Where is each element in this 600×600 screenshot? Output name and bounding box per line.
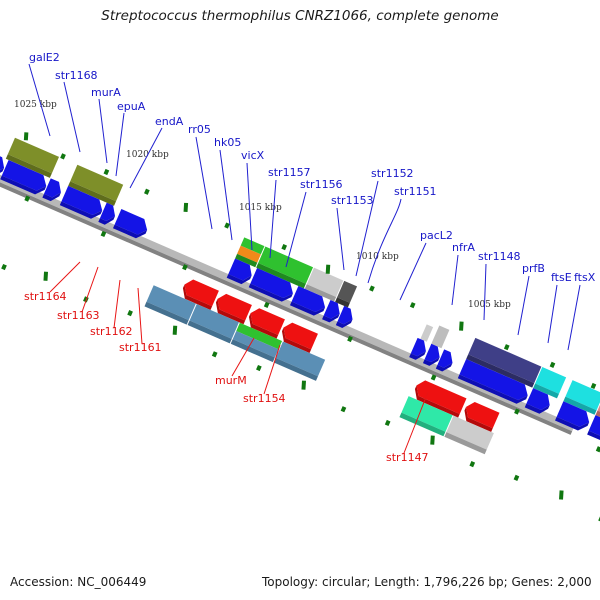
genome-map-viewer: Streptococcus thermophilus CNRZ1066, com… <box>0 0 600 600</box>
gene-label-str1147[interactable]: str1147 <box>386 451 429 464</box>
gene-label-murM[interactable]: murM <box>215 374 247 387</box>
gene-label-str1156[interactable]: str1156 <box>300 178 343 191</box>
leader-line <box>452 255 458 305</box>
leader-line <box>568 285 580 350</box>
gene-label-prfB[interactable]: prfB <box>522 262 545 275</box>
gene-label-str1161[interactable]: str1161 <box>119 341 162 354</box>
axis-tick-label: 1015 kbp <box>239 203 282 213</box>
leader-line <box>114 280 120 328</box>
leader-line <box>400 243 426 300</box>
leader-line <box>196 137 212 229</box>
leader-line <box>337 208 344 270</box>
gene-label-str1163[interactable]: str1163 <box>57 309 100 322</box>
gene-label-str1152[interactable]: str1152 <box>371 167 414 180</box>
gene-label-str1168[interactable]: str1168 <box>55 69 98 82</box>
gene-label-pacL2[interactable]: pacL2 <box>420 229 453 242</box>
gene-label-str1151[interactable]: str1151 <box>394 185 437 198</box>
gene-label-rr05[interactable]: rr05 <box>188 123 211 136</box>
leader-line <box>484 264 486 320</box>
gene-label-str1164[interactable]: str1164 <box>24 290 67 303</box>
leader-line <box>64 82 80 152</box>
gene-label-str1154[interactable]: str1154 <box>243 392 286 405</box>
leader-line <box>138 288 142 344</box>
leader-line <box>270 180 276 258</box>
leader-line <box>99 99 107 163</box>
gene-label-ftsE[interactable]: ftsE <box>551 271 572 284</box>
forward-gene-labels: galE2 str1168 murA epuA endA rr05 hk05 v… <box>29 51 596 284</box>
gene-arrow[interactable] <box>587 415 600 447</box>
leader-line <box>116 113 124 176</box>
leader-line <box>82 267 98 312</box>
leader-line <box>368 199 401 283</box>
axis-tick-label: 1025 kbp <box>14 100 57 110</box>
gene-label-vicX[interactable]: vicX <box>241 149 265 162</box>
axis-tick-label: 1005 kbp <box>468 300 511 310</box>
gene-label-nfrA[interactable]: nfrA <box>452 241 475 254</box>
gene-label-epuA[interactable]: epuA <box>117 100 146 113</box>
accession-label: Accession: NC_006449 <box>10 575 146 589</box>
category-box[interactable] <box>431 325 449 348</box>
page-title: Streptococcus thermophilus CNRZ1066, com… <box>101 8 498 24</box>
leader-line <box>286 192 306 267</box>
gene-label-str1162[interactable]: str1162 <box>90 325 133 338</box>
gene-label-endA[interactable]: endA <box>155 115 184 128</box>
leader-line <box>518 276 529 335</box>
gene-label-str1153[interactable]: str1153 <box>331 194 374 207</box>
gene-label-str1148[interactable]: str1148 <box>478 250 521 263</box>
axis-tick-label: 1010 kbp <box>356 252 399 262</box>
category-box[interactable] <box>420 324 433 341</box>
gene-label-ftsX[interactable]: ftsX <box>574 271 596 284</box>
genome-summary-label: Topology: circular; Length: 1,796,226 bp… <box>261 575 592 589</box>
gene-label-galE2[interactable]: galE2 <box>29 51 60 64</box>
leader-line <box>548 285 557 343</box>
gene-label-hk05[interactable]: hk05 <box>214 136 241 149</box>
gene-label-murA[interactable]: murA <box>91 86 121 99</box>
leader-line <box>50 262 80 292</box>
